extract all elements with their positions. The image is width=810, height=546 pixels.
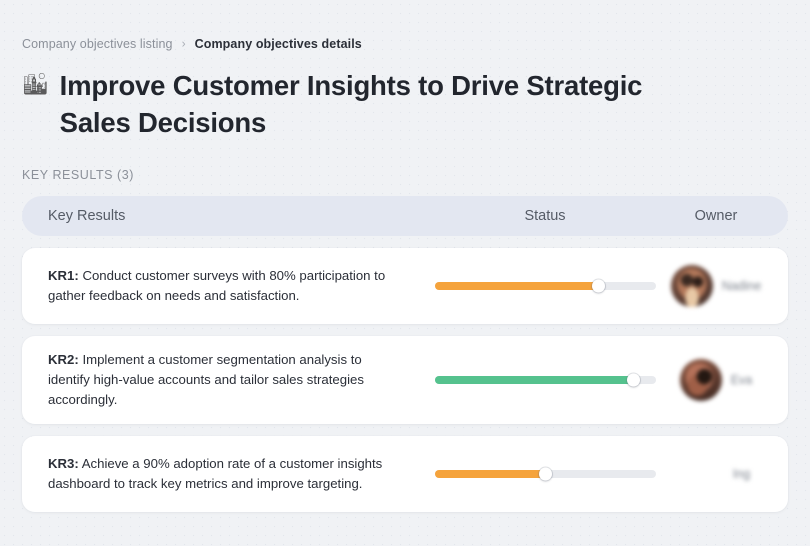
key-result-description: KR1: Conduct customer surveys with 80% p… [48,266,420,306]
progress-fill [435,282,599,290]
progress-slider[interactable] [435,470,656,478]
column-header-owner-label: Owner [695,208,738,224]
breadcrumb-current: Company objectives details [195,38,362,51]
key-result-text: Conduct customer surveys with 80% partic… [48,268,385,303]
owner-cell: Eva [670,359,762,401]
key-result-id: KR1: [48,268,79,283]
progress-handle[interactable] [592,279,605,292]
objective-details-page: Company objectives listing › Company obj… [0,0,810,546]
page-title: Improve Customer Insights to Drive Strat… [60,67,718,142]
avatar[interactable] [671,265,713,307]
key-result-id: KR2: [48,352,79,367]
key-result-description: KR3: Achieve a 90% adoption rate of a cu… [48,454,420,494]
chevron-right-icon: › [182,38,186,50]
table-header-row: Key Results Status Owner [22,196,788,236]
avatar[interactable] [682,453,724,495]
key-results-table: Key Results Status Owner KR1: Conduct cu… [22,196,788,512]
progress-fill [435,376,634,384]
column-header-owner: Owner [670,207,762,225]
status-cell [420,282,670,290]
page-title-row: 🏙 Improve Customer Insights to Drive Str… [22,67,788,142]
progress-slider[interactable] [435,376,656,384]
key-results-section-label: KEY RESULTS (3) [22,168,788,182]
owner-cell: Ing [670,453,762,495]
status-cell [420,470,670,478]
owner-name: Eva [731,373,753,387]
key-result-text: Achieve a 90% adoption rate of a custome… [48,456,382,491]
column-header-key-results-label: Key Results [48,208,125,224]
key-result-id: KR3: [48,456,79,471]
key-result-text: Implement a customer segmentation analys… [48,352,364,407]
owner-cell: Nadine [670,265,762,307]
table-row[interactable]: KR3: Achieve a 90% adoption rate of a cu… [22,436,788,512]
table-row[interactable]: KR1: Conduct customer surveys with 80% p… [22,248,788,324]
progress-fill [435,470,546,478]
status-cell [420,376,670,384]
table-row[interactable]: KR2: Implement a customer segmentation a… [22,336,788,424]
owner-name: Ing [733,467,750,481]
column-header-key-results: Key Results [48,207,420,225]
avatar[interactable] [680,359,722,401]
key-result-description: KR2: Implement a customer segmentation a… [48,350,420,410]
owner-name: Nadine [722,279,762,293]
cityscape-building-icon: 🏙 [22,67,49,103]
column-header-status: Status [420,207,670,225]
progress-handle[interactable] [627,373,640,386]
progress-slider[interactable] [435,282,656,290]
breadcrumb-parent-link[interactable]: Company objectives listing [22,38,173,51]
breadcrumb: Company objectives listing › Company obj… [22,0,788,51]
column-header-status-label: Status [524,208,565,224]
progress-handle[interactable] [539,468,552,481]
